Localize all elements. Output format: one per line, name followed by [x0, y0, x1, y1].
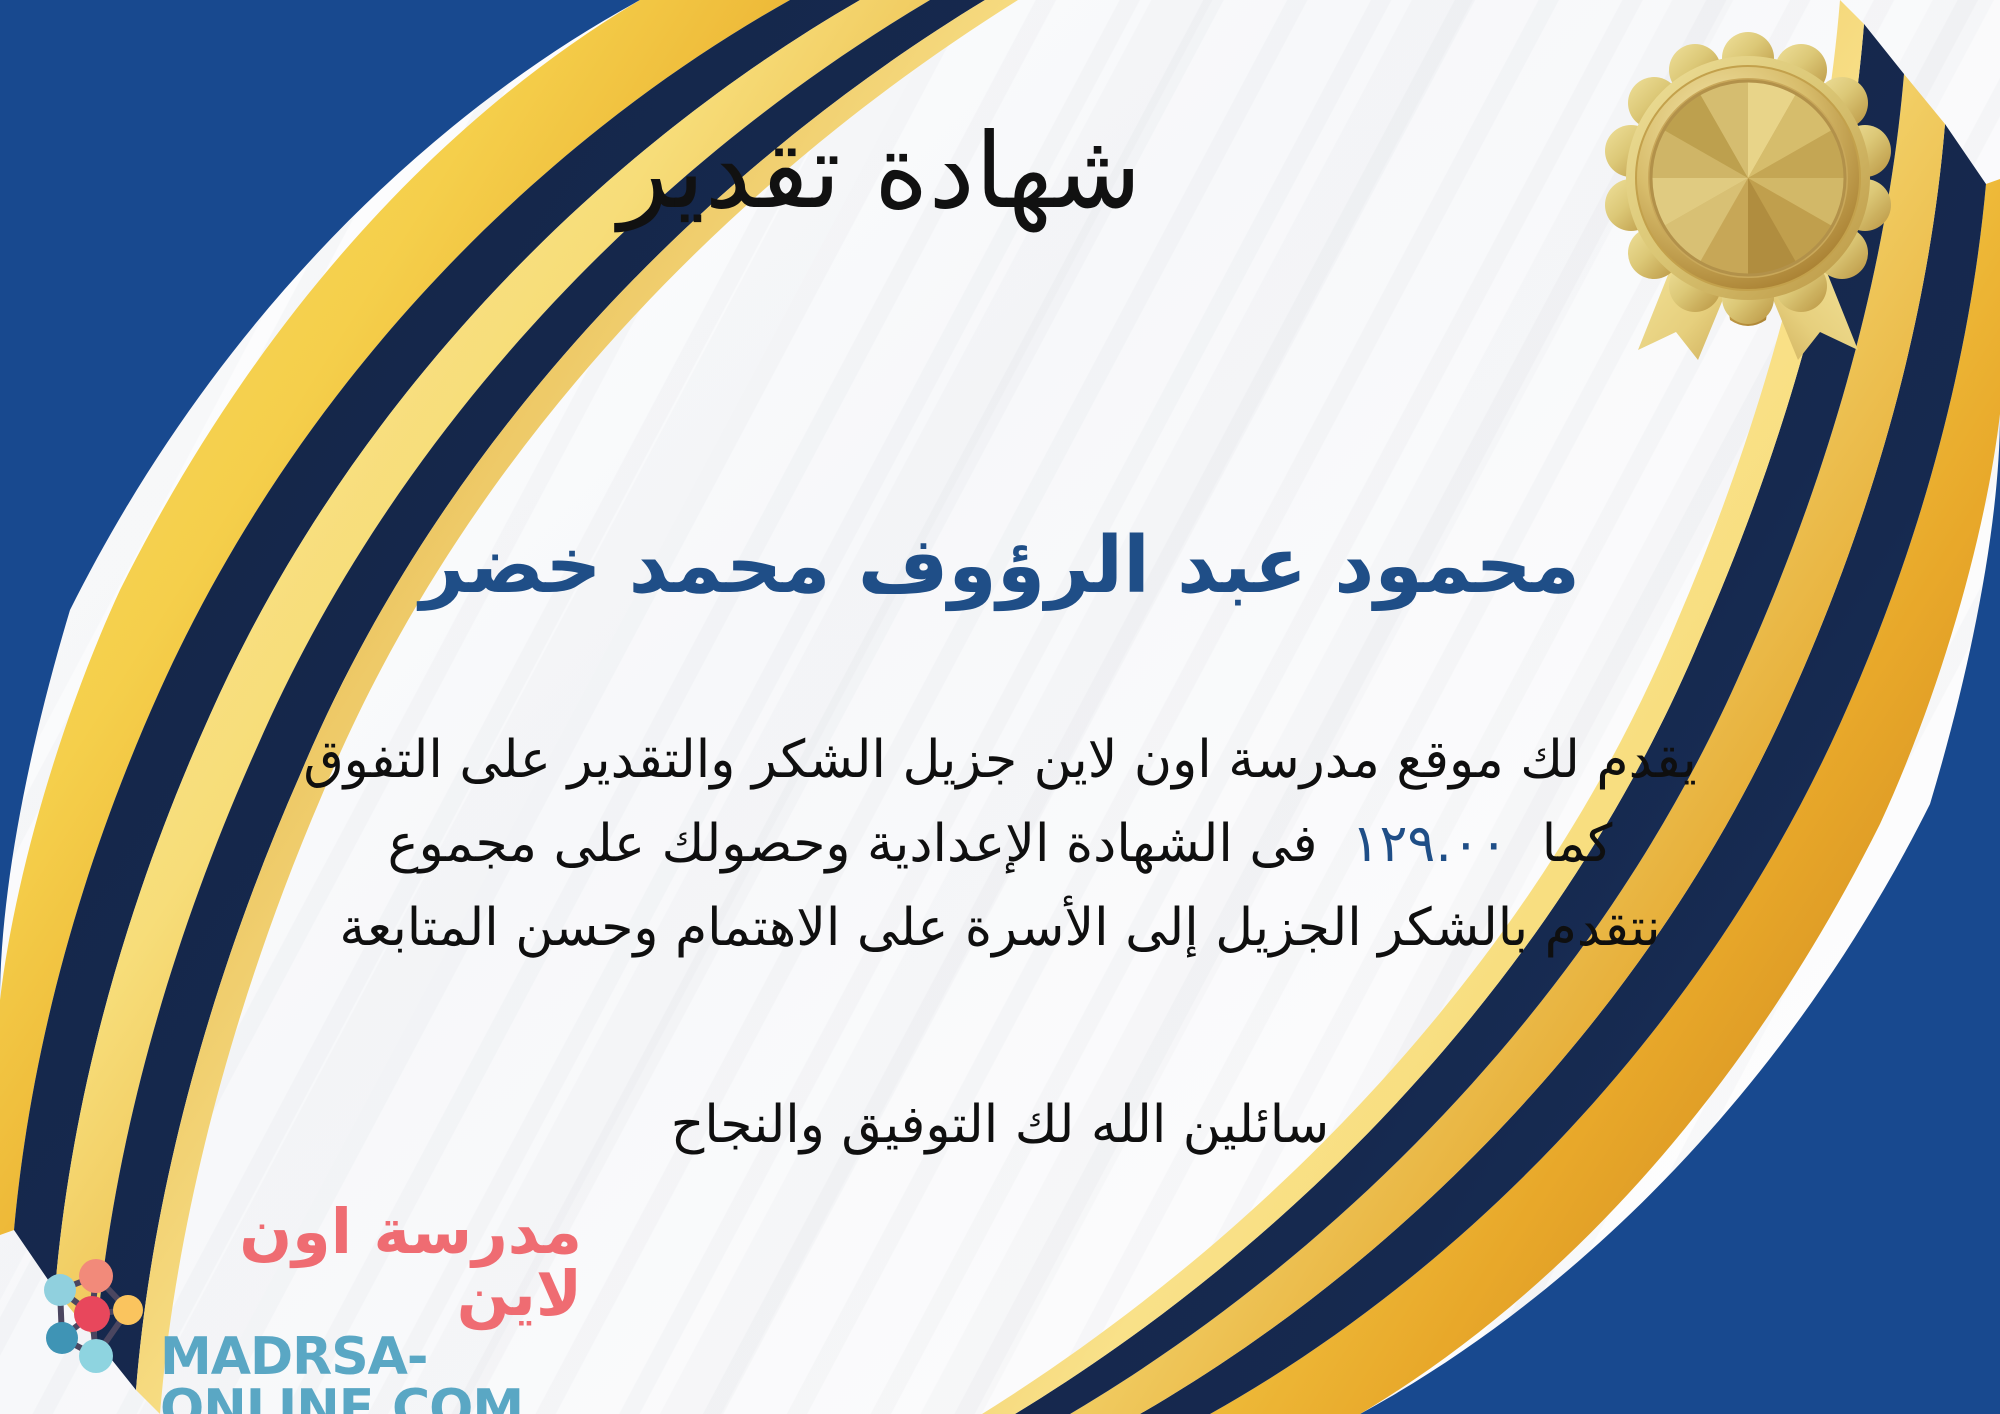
site-logo[interactable]: مدرسة اون لاين MADRSA-ONLINE.COM: [22, 1238, 582, 1398]
body-line-3: نتقدم بالشكر الجزيل إلى الأسرة على الاهت…: [55, 886, 1945, 970]
certificate-body: يقدم لك موقع مدرسة اون لاين جزيل الشكر و…: [55, 718, 1945, 971]
page-title: شهادة تقدير: [0, 112, 1760, 232]
body-line-2: كما١٢٩.٠٠فى الشهادة الإعدادية وحصولك على…: [55, 802, 1945, 886]
body-line-2-suffix: كما: [1542, 814, 1613, 874]
total-score-value: ١٢٩.٠٠: [1318, 814, 1542, 874]
logo-arabic-name: مدرسة اون لاين: [160, 1201, 582, 1325]
recipient-name: محمود عبد الرؤوف محمد خضر: [0, 520, 2000, 614]
logo-website-url: MADRSA-ONLINE.COM: [160, 1331, 582, 1414]
logo-text-group: مدرسة اون لاين MADRSA-ONLINE.COM: [160, 1201, 582, 1414]
closing-line: سائلين الله لك التوفيق والنجاح: [0, 1095, 2000, 1155]
body-line-1: يقدم لك موقع مدرسة اون لاين جزيل الشكر و…: [55, 718, 1945, 802]
network-nodes-icon: [22, 1252, 154, 1384]
body-line-2-prefix: فى الشهادة الإعدادية وحصولك على مجموع: [388, 814, 1318, 874]
certificate-page: شهادة تقدير محمود عبد الرؤوف محمد خضر يق…: [0, 0, 2000, 1414]
